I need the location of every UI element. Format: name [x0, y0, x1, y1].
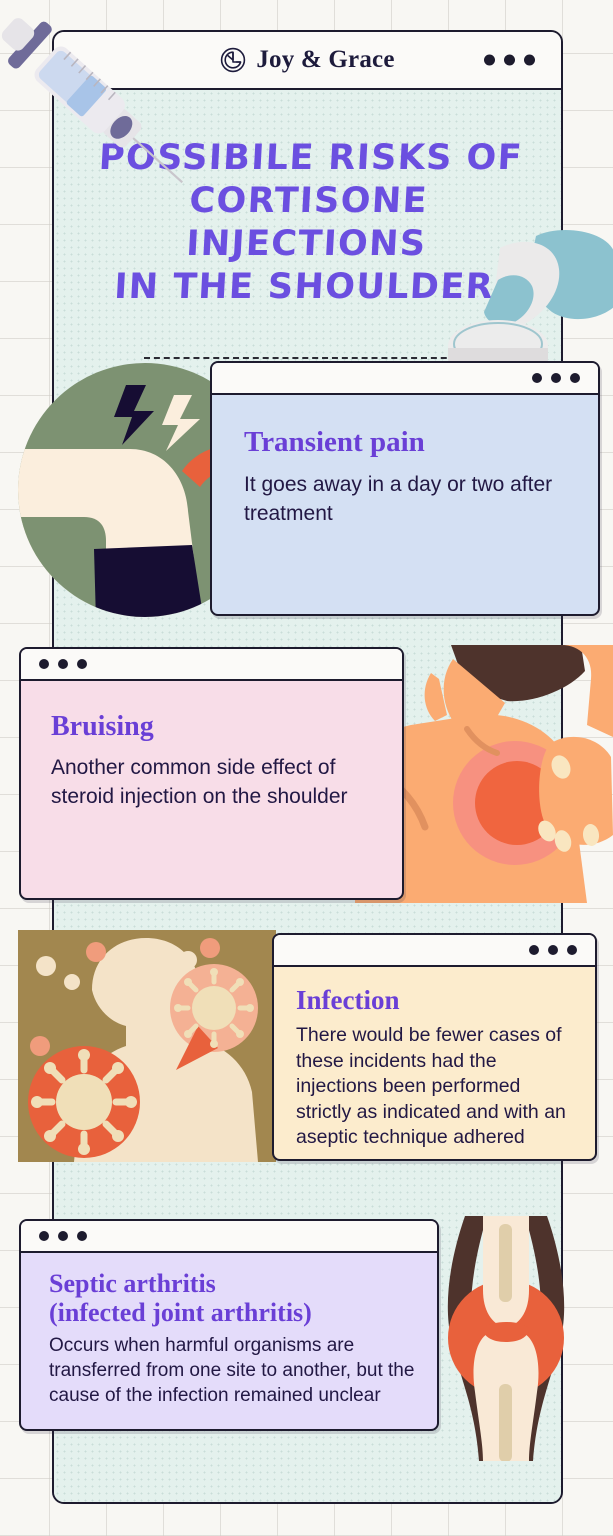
dot	[548, 945, 558, 955]
virus-body-silhouette-illustration	[18, 930, 276, 1162]
card-transient-pain[interactable]: Transient pain It goes away in a day or …	[210, 361, 600, 616]
dot	[529, 945, 539, 955]
card-title: Bruising	[51, 711, 378, 742]
card-title-line-1: Septic arthritis	[49, 1269, 421, 1298]
card-body: Bruising Another common side effect of s…	[21, 681, 402, 898]
card-titlebar	[21, 649, 402, 681]
dot	[504, 55, 515, 66]
card-title: Infection	[296, 985, 579, 1016]
dot	[77, 1231, 87, 1241]
card-body: Septic arthritis (infected joint arthrit…	[21, 1253, 437, 1429]
dot	[484, 55, 495, 66]
brand-name: Joy & Grace	[256, 46, 394, 74]
dot	[570, 373, 580, 383]
card-titlebar	[212, 363, 598, 395]
three-dots-icon[interactable]	[484, 55, 535, 66]
card-description: Occurs when harmful organisms are transf…	[49, 1333, 421, 1408]
dot	[77, 659, 87, 669]
card-titlebar	[274, 935, 595, 967]
syringe-illustration	[0, 0, 212, 230]
inflamed-knee-joint-illustration	[437, 1216, 575, 1461]
dot	[58, 1231, 68, 1241]
card-septic-arthritis[interactable]: Septic arthritis (infected joint arthrit…	[19, 1219, 439, 1431]
card-title: Septic arthritis (infected joint arthrit…	[49, 1269, 421, 1327]
card-title-line-2: (infected joint arthritis)	[49, 1298, 421, 1327]
brand-logo-group: Joy & Grace	[220, 46, 394, 74]
three-dots-icon[interactable]	[532, 373, 580, 383]
card-body: Transient pain It goes away in a day or …	[212, 395, 598, 614]
dot	[39, 659, 49, 669]
card-title: Transient pain	[244, 427, 570, 458]
dot	[39, 1231, 49, 1241]
dot	[58, 659, 68, 669]
dot	[567, 945, 577, 955]
card-infection[interactable]: Infection There would be fewer cases of …	[272, 933, 597, 1161]
dot	[524, 55, 535, 66]
card-description: Another common side effect of steroid in…	[51, 753, 378, 811]
dot	[551, 373, 561, 383]
three-dots-icon[interactable]	[529, 945, 577, 955]
card-titlebar	[21, 1221, 437, 1253]
card-body: Infection There would be fewer cases of …	[274, 967, 595, 1159]
card-bruising[interactable]: Bruising Another common side effect of s…	[19, 647, 404, 900]
three-dots-icon[interactable]	[39, 659, 87, 669]
dot	[532, 373, 542, 383]
three-dots-icon[interactable]	[39, 1231, 87, 1241]
jg-monogram-circle-icon	[220, 47, 246, 73]
card-description: There would be fewer cases of these inci…	[296, 1023, 579, 1151]
card-description: It goes away in a day or two after treat…	[244, 470, 570, 528]
